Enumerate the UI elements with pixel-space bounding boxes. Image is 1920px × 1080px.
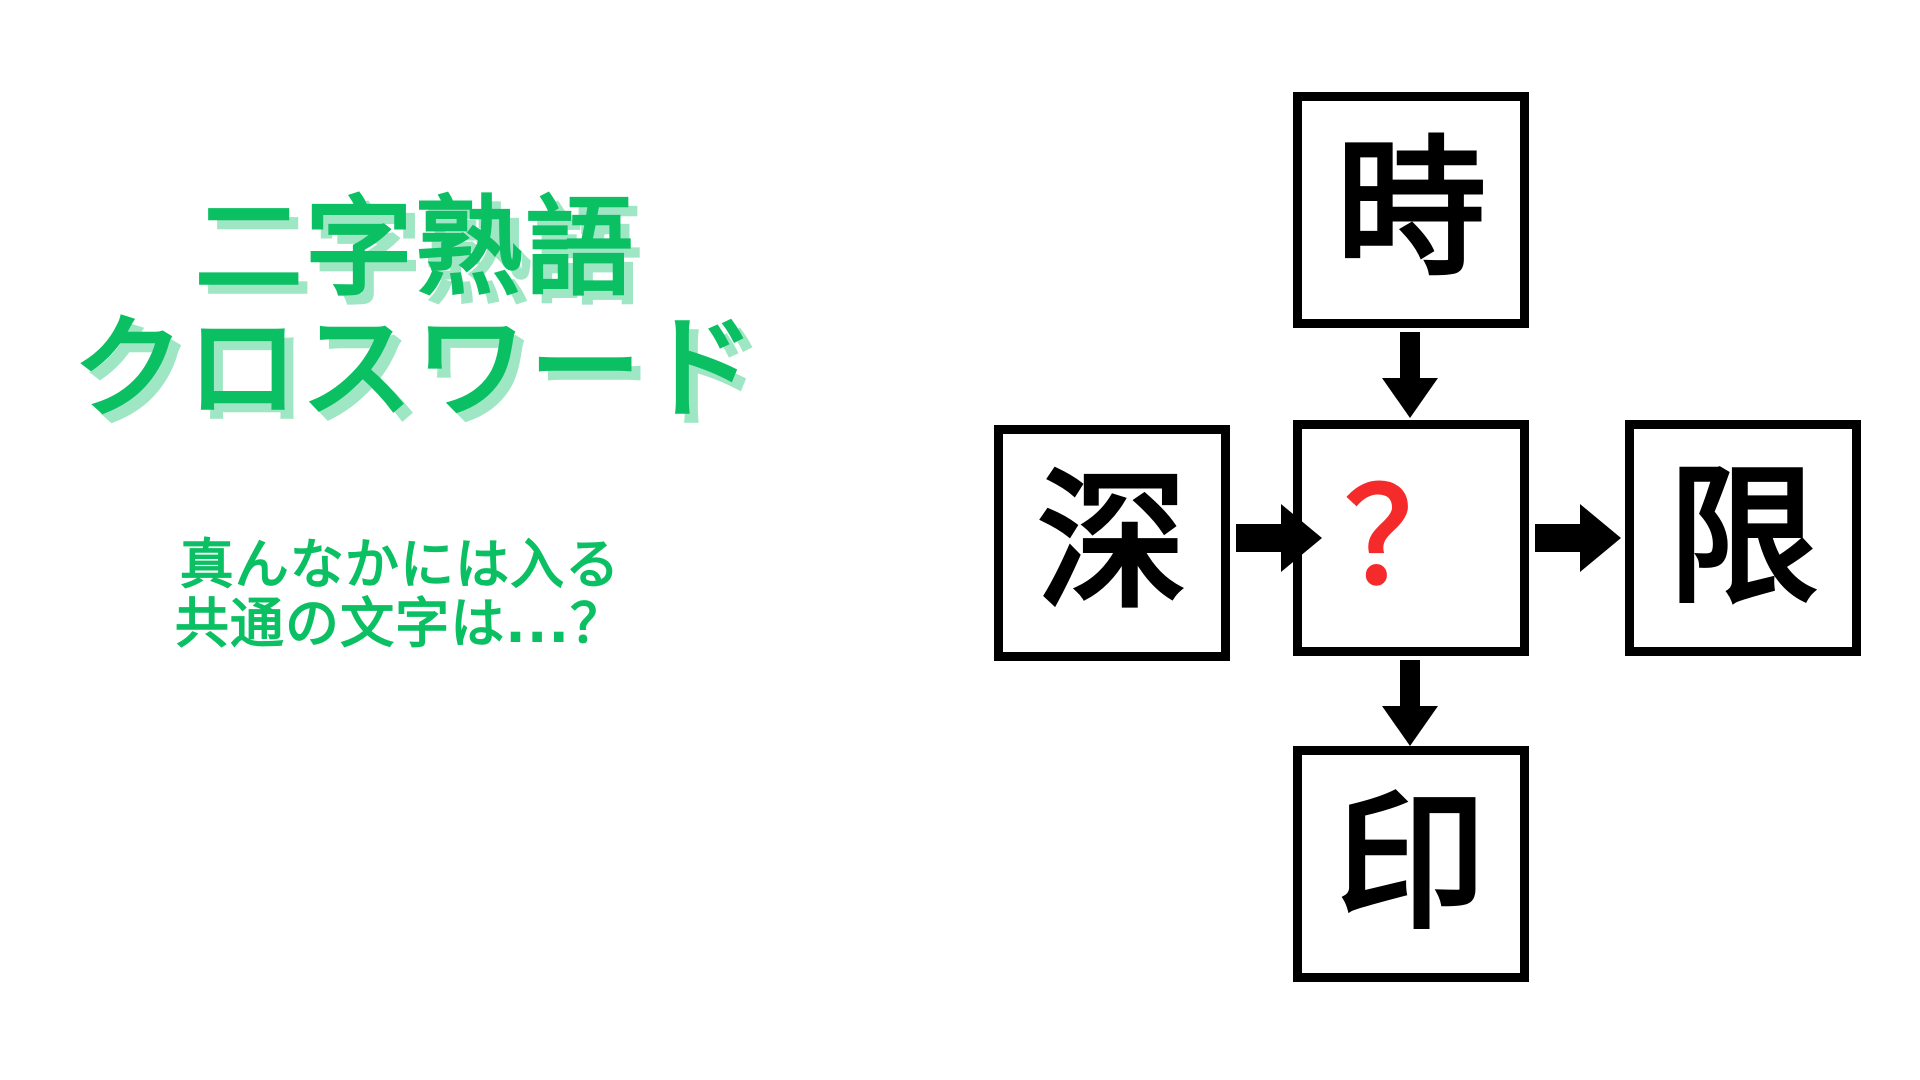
crossword-diagram: 時 深 ？ 限 印	[0, 0, 1920, 1080]
cell-right-char: 限	[1668, 463, 1818, 613]
arrow-down-icon	[1382, 332, 1438, 418]
cell-center-question-mark: ？	[1345, 472, 1477, 604]
cell-top[interactable]: 時	[1293, 92, 1529, 328]
arrow-down-icon	[1382, 660, 1438, 746]
arrow-right-icon	[1236, 498, 1322, 578]
arrow-right-icon	[1535, 498, 1621, 578]
cell-top-char: 時	[1336, 135, 1486, 285]
poster-canvas: 二字熟語 クロスワード 真んなかには入る 共通の文字は...？ 時 深 ？ 限 …	[0, 0, 1920, 1080]
cell-bottom[interactable]: 印	[1293, 746, 1529, 982]
cell-left-char: 深	[1037, 468, 1187, 618]
cell-bottom-char: 印	[1336, 789, 1486, 939]
cell-center-answer[interactable]: ？	[1293, 420, 1529, 656]
cell-left[interactable]: 深	[994, 425, 1230, 661]
cell-right[interactable]: 限	[1625, 420, 1861, 656]
